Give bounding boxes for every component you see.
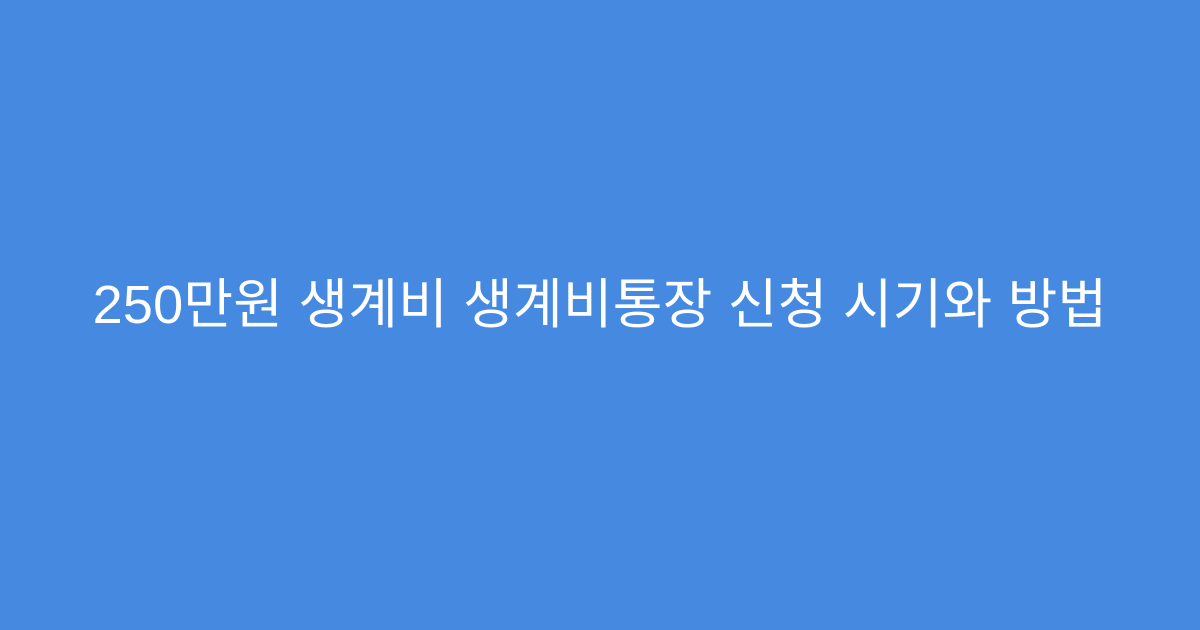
page-title: 250만원 생계비 생계비통장 신청 시기와 방법 [93,269,1108,342]
thumbnail-card: 250만원 생계비 생계비통장 신청 시기와 방법 [0,0,1200,630]
title-block: 250만원 생계비 생계비통장 신청 시기와 방법 [0,269,1200,342]
